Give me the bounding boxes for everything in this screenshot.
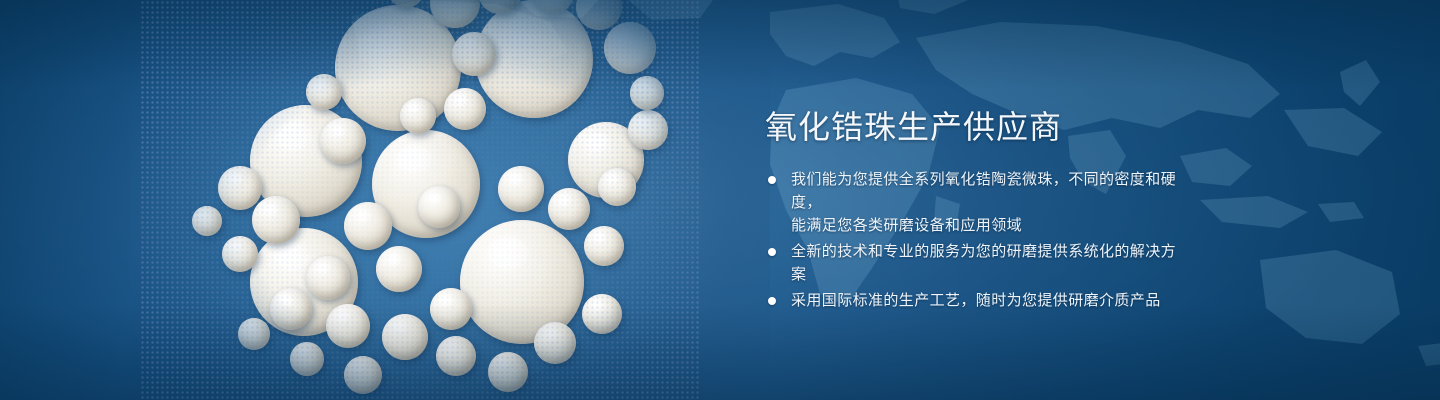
list-item-text: 我们能为您提供全系列氧化锆陶瓷微珠，不同的密度和硬度， 能满足您各类研磨设备和应… (791, 168, 1188, 237)
list-item-line-1: 采用国际标准的生产工艺，随时为您提供研磨介质产品 (791, 292, 1161, 309)
list-item: 采用国际标准的生产工艺，随时为您提供研磨介质产品 (768, 289, 1188, 312)
bullet-dot-icon (768, 248, 776, 256)
list-item-text: 全新的技术和专业的服务为您的研磨提供系统化的解决方案 (791, 240, 1188, 286)
list-item-text: 采用国际标准的生产工艺，随时为您提供研磨介质产品 (791, 289, 1188, 312)
bullet-dot-icon (768, 297, 776, 305)
list-item-line-2: 能满足您各类研磨设备和应用领域 (791, 214, 1188, 237)
banner-feature-list: 我们能为您提供全系列氧化锆陶瓷微珠，不同的密度和硬度， 能满足您各类研磨设备和应… (768, 168, 1188, 312)
list-item-line-1: 我们能为您提供全系列氧化锆陶瓷微珠，不同的密度和硬度， (791, 171, 1176, 211)
list-item: 我们能为您提供全系列氧化锆陶瓷微珠，不同的密度和硬度， 能满足您各类研磨设备和应… (768, 168, 1188, 237)
banner-headline: 氧化锆珠生产供应商 (765, 111, 1062, 143)
hero-banner: 氧化锆珠生产供应商 我们能为您提供全系列氧化锆陶瓷微珠，不同的密度和硬度， 能满… (0, 0, 1440, 400)
bullet-dot-icon (768, 176, 776, 184)
list-item: 全新的技术和专业的服务为您的研磨提供系统化的解决方案 (768, 240, 1188, 286)
banner-copy: 氧化锆珠生产供应商 我们能为您提供全系列氧化锆陶瓷微珠，不同的密度和硬度， 能满… (765, 0, 1385, 400)
list-item-line-1: 全新的技术和专业的服务为您的研磨提供系统化的解决方案 (791, 243, 1176, 283)
